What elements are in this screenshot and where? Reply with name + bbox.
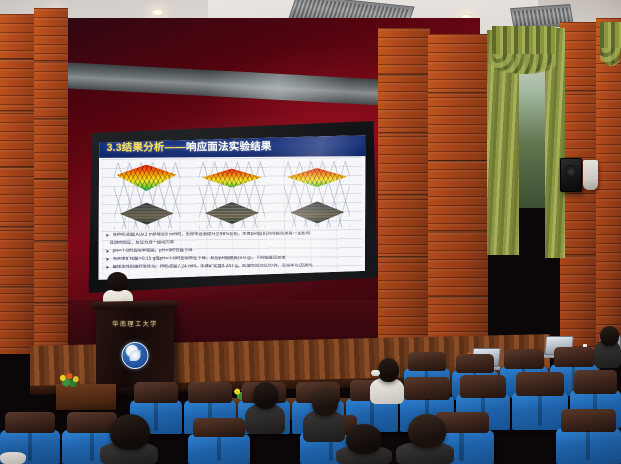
response-surface-plot-1 (109, 160, 183, 231)
bullet-text-5: 最佳条件的操作条件为：PMS浓度7.24 mM，水体矿化度0.247 g，处理时… (113, 263, 313, 270)
bullet-arrow-icon: ➤ (105, 265, 109, 272)
response-surface-plot-2 (195, 160, 269, 231)
bullet-text-2: 其协同效应，反应为准一级动力学 (110, 240, 174, 246)
presentation-slide: 3.3结果分析——响应面法实验结果 (98, 135, 367, 280)
audience-head-4 (110, 414, 150, 450)
bullet-arrow-icon: ➤ (105, 257, 109, 264)
audience-head-5 (346, 424, 382, 454)
curtain-valance-far-right (600, 22, 621, 66)
response-surface-plot-3 (280, 159, 354, 230)
wall-ac-unit (583, 160, 598, 190)
lectern-podium: 华南理工大学 (96, 306, 174, 390)
audience-head-3 (312, 388, 338, 416)
bullet-arrow-icon: ➤ (105, 233, 109, 240)
bullet-text-1: 当PMS浓度[A]从3 mM增至9 mM时，去除率逐渐提升至98%左右，水体pH… (112, 231, 310, 238)
bullet-text-4: 当水体矿化度>0.15 g或pH=7-8时去除率在下降，反应pH值提高(3.0 … (113, 256, 286, 263)
bullet-text-3: pH=7-8时去除率较高，pH=9时性能下降 (112, 248, 192, 255)
wood-panel-far-right (596, 18, 621, 356)
face-mask-1 (371, 370, 380, 376)
audience-shoulders-8 (0, 452, 26, 464)
podium-top-surface (92, 300, 178, 310)
wood-panel-far-left (0, 14, 36, 354)
slide-bullet-5: ➤ 最佳条件的操作条件为：PMS浓度7.24 mM，水体矿化度0.247 g，处… (105, 263, 361, 272)
seat-row3-8[interactable] (512, 392, 568, 430)
audience-head-2 (253, 382, 278, 409)
seat-row2-6[interactable] (556, 428, 621, 464)
curtain-valance-center (492, 26, 556, 74)
audience-head-7 (600, 326, 619, 346)
screen-surface: 3.3结果分析——响应面法实验结果 (98, 135, 367, 280)
projection-screen[interactable]: 3.3结果分析——响应面法实验结果 (87, 121, 377, 293)
slide-title-dash: —— (165, 141, 186, 153)
wall-loudspeaker (560, 158, 582, 192)
wood-panel-right-a (428, 34, 488, 354)
auditorium-photo: 3.3结果分析——响应面法实验结果 (0, 0, 621, 464)
flower-arrangement-left (58, 372, 82, 387)
wood-panel-left (34, 8, 68, 356)
podium-institution-name: 华南理工大学 (96, 319, 174, 328)
slide-bullet-list: ➤ 当PMS浓度[A]从3 mM增至9 mM时，去除率逐渐提升至98%左右，水体… (105, 231, 361, 273)
side-desk-left (56, 384, 116, 410)
slide-title-sub: 响应面法实验结果 (186, 141, 272, 154)
presenter-hair (107, 272, 128, 291)
bullet-spacer-icon (105, 241, 106, 248)
slide-title-main: 3.3结果分析 (107, 141, 165, 153)
audience-head-6 (408, 414, 446, 448)
university-emblem-icon (122, 342, 149, 369)
audience-head-1 (378, 358, 399, 382)
response-surface-plots (104, 159, 360, 231)
wood-panel-center-right (378, 28, 430, 350)
seat-row2-3[interactable] (188, 434, 250, 464)
bullet-arrow-icon: ➤ (105, 249, 109, 256)
downlight-2 (151, 9, 164, 16)
